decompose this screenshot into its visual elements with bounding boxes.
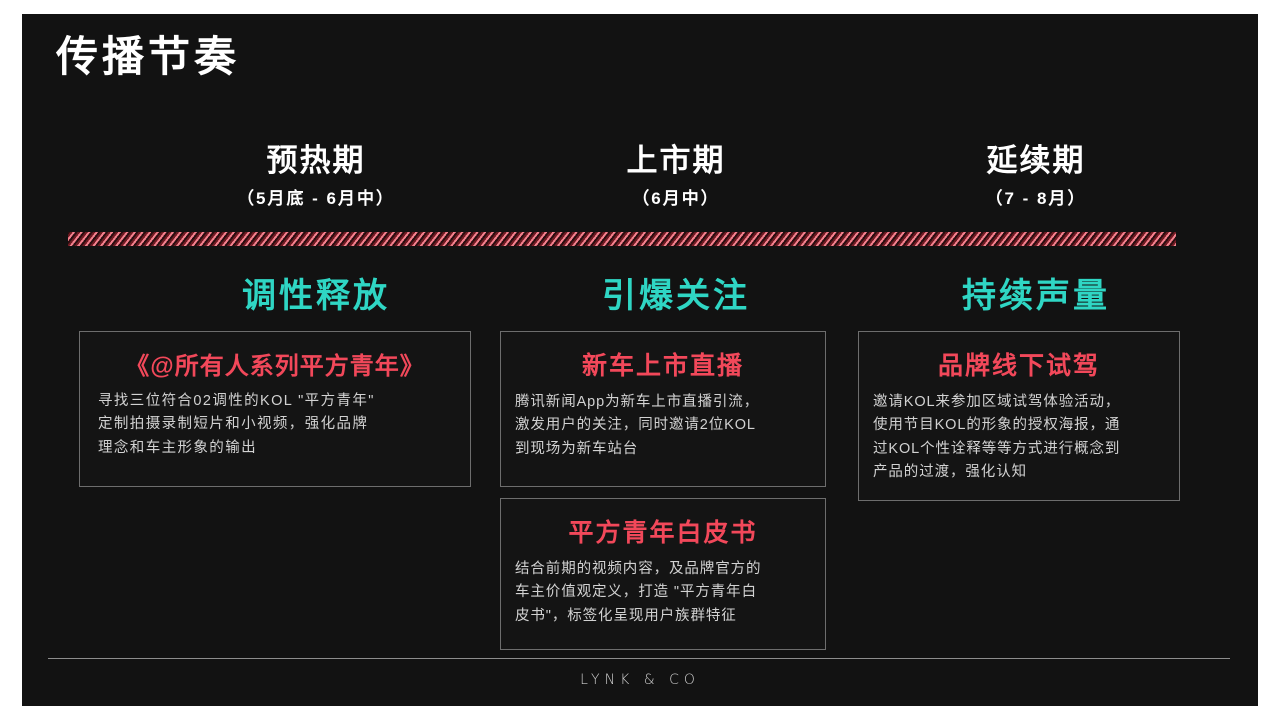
card-body-line: 产品的过渡，强化认知 (873, 461, 1167, 484)
content-card-4: 平方青年白皮书 结合前期的视频内容，及品牌官方的 车主价值观定义，打造 "平方青… (500, 498, 826, 650)
theme-heading-1: 调性释放 (166, 268, 466, 317)
theme-heading-3: 持续声量 (896, 268, 1176, 317)
slide-canvas: 传播节奏 预热期 （5月底 - 6月中） 上市期 （6月中） 延续期 （7 - … (22, 14, 1258, 706)
content-card-3: 品牌线下试驾 邀请KOL来参加区域试驾体验活动， 使用节目KOL的形象的授权海报… (858, 331, 1180, 501)
card-body-line: 邀请KOL来参加区域试驾体验活动， (873, 391, 1167, 414)
phase-header-1: 预热期 （5月底 - 6月中） (166, 142, 466, 209)
theme-heading-2: 引爆关注 (546, 268, 806, 317)
card-body-line: 车主价值观定义，打造 "平方青年白 (515, 581, 813, 604)
phase-range-1: （5月底 - 6月中） (166, 184, 466, 209)
card-body-line: 到现场为新车站台 (515, 438, 813, 461)
card-body-line: 腾讯新闻App为新车上市直播引流， (515, 391, 813, 414)
card-body-2: 腾讯新闻App为新车上市直播引流， 激发用户的关注，同时邀请2位KOL 到现场为… (515, 391, 813, 461)
theme-heading-row: 调性释放 引爆关注 持续声量 (56, 268, 1216, 320)
card-body-1: 寻找三位符合02调性的KOL "平方青年" 定制拍摄录制短片和小视频，强化品牌 … (98, 390, 452, 460)
card-body-line: 过KOL个性诠释等等方式进行概念到 (873, 438, 1167, 461)
card-body-line: 使用节目KOL的形象的授权海报，通 (873, 414, 1167, 437)
timeline-stripe-bar (68, 232, 1176, 246)
card-body-line: 激发用户的关注，同时邀请2位KOL (515, 414, 813, 437)
phase-header-2: 上市期 （6月中） (546, 142, 806, 209)
card-body-line: 皮书"，标签化呈现用户族群特征 (515, 605, 813, 628)
phase-name-1: 预热期 (166, 142, 466, 181)
phase-header-3: 延续期 （7 - 8月） (896, 142, 1176, 209)
footer-divider (48, 658, 1230, 659)
card-title-4: 平方青年白皮书 (501, 513, 825, 549)
phase-range-2: （6月中） (546, 184, 806, 209)
phase-name-3: 延续期 (896, 142, 1176, 181)
card-title-3: 品牌线下试驾 (859, 346, 1179, 382)
phase-name-2: 上市期 (546, 142, 806, 181)
brand-logo: LYNK & CO (22, 672, 1258, 688)
card-body-3: 邀请KOL来参加区域试驾体验活动， 使用节目KOL的形象的授权海报，通 过KOL… (873, 391, 1167, 485)
phase-header-row: 预热期 （5月底 - 6月中） 上市期 （6月中） 延续期 （7 - 8月） (56, 142, 1216, 226)
page-title: 传播节奏 (56, 32, 240, 82)
phase-range-3: （7 - 8月） (896, 184, 1176, 209)
card-title-1: 《@所有人系列平方青年》 (80, 346, 470, 381)
card-body-4: 结合前期的视频内容，及品牌官方的 车主价值观定义，打造 "平方青年白 皮书"，标… (515, 558, 813, 628)
content-card-1: 《@所有人系列平方青年》 寻找三位符合02调性的KOL "平方青年" 定制拍摄录… (79, 331, 471, 487)
card-body-line: 理念和车主形象的输出 (98, 437, 452, 460)
card-body-line: 结合前期的视频内容，及品牌官方的 (515, 558, 813, 581)
card-body-line: 寻找三位符合02调性的KOL "平方青年" (98, 390, 452, 413)
slide-frame: 传播节奏 预热期 （5月底 - 6月中） 上市期 （6月中） 延续期 （7 - … (0, 0, 1280, 720)
content-card-2: 新车上市直播 腾讯新闻App为新车上市直播引流， 激发用户的关注，同时邀请2位K… (500, 331, 826, 487)
card-title-2: 新车上市直播 (501, 346, 825, 382)
card-body-line: 定制拍摄录制短片和小视频，强化品牌 (98, 413, 452, 436)
